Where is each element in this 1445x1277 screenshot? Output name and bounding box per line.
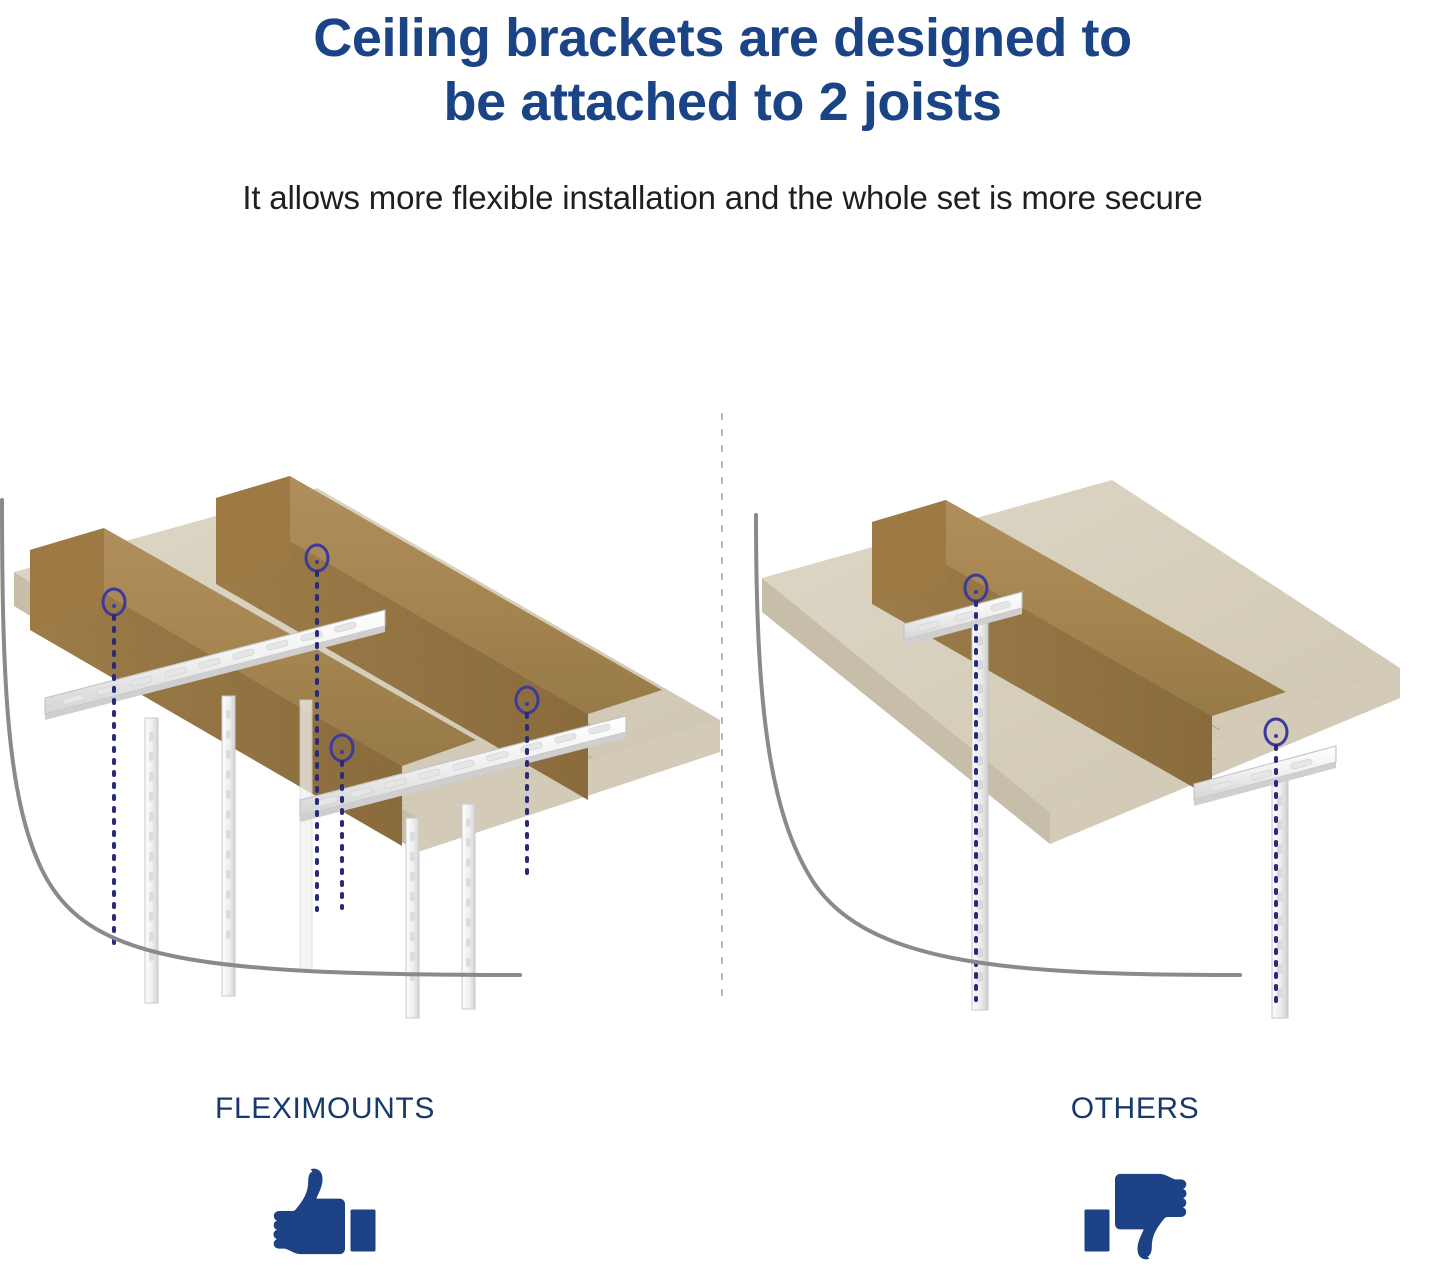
header: Ceiling brackets are designed to be atta… xyxy=(0,0,1445,218)
verdict-icon-wrap-right xyxy=(930,1168,1340,1260)
page-title: Ceiling brackets are designed to be atta… xyxy=(0,0,1445,134)
bracket-post-right xyxy=(1272,778,1288,1018)
brand-block-fleximounts: FLEXIMOUNTS xyxy=(120,1092,530,1260)
brand-block-others: OTHERS xyxy=(930,1092,1340,1260)
mount-assembly-right xyxy=(1194,746,1336,1018)
verdict-icon-wrap-left xyxy=(120,1168,530,1260)
page-subtitle: It allows more flexible installation and… xyxy=(0,134,1445,218)
bracket-post-upper-left xyxy=(145,718,158,1003)
thumbs-down-icon xyxy=(1080,1168,1190,1260)
brand-label-fleximounts: FLEXIMOUNTS xyxy=(120,1092,530,1126)
page-title-line-2: be attached to 2 joists xyxy=(0,70,1445,134)
illustration-others-one-joist xyxy=(720,400,1445,1020)
illustration-fleximounts-two-joists xyxy=(0,400,720,1020)
bracket-post-lower-right xyxy=(462,804,475,1009)
bracket-post-upper-far xyxy=(300,700,312,970)
brand-label-others: OTHERS xyxy=(930,1092,1340,1126)
bracket-post-upper-right xyxy=(222,696,235,996)
thumbs-up-icon xyxy=(270,1168,380,1260)
bracket-post-lower-left xyxy=(406,818,419,1018)
page-title-line-1: Ceiling brackets are designed to xyxy=(0,6,1445,70)
